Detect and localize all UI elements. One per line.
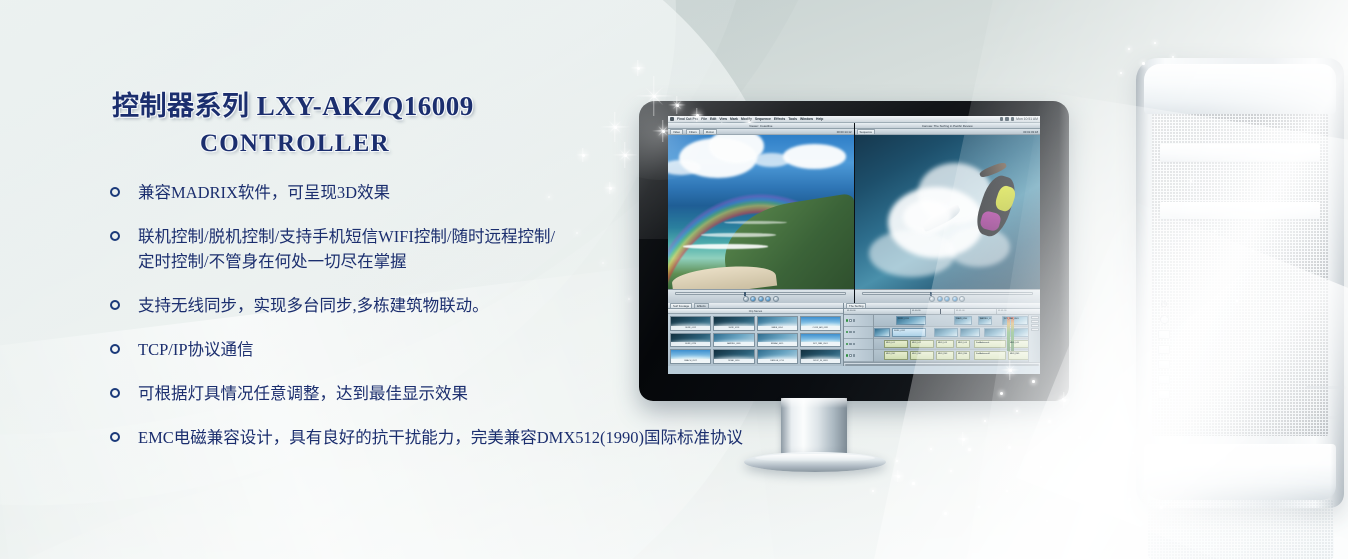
clip-label: BEACH_0522 [671, 359, 710, 363]
track-auto-icon[interactable] [853, 319, 856, 322]
prev-frame-button[interactable] [743, 296, 749, 302]
list-item[interactable]: DROP_IN_0803 [800, 349, 841, 364]
clip-overlays-button[interactable] [1031, 324, 1039, 327]
display-monitor: Final Cut Pro File Edit View Mark Modify… [639, 101, 1069, 401]
track-auto-icon[interactable] [853, 343, 856, 346]
record-button[interactable] [758, 296, 764, 302]
tower-top-cap [1144, 64, 1336, 114]
viewer-canvas[interactable] [668, 135, 854, 289]
clip-label: BARREL_0309 [714, 342, 753, 346]
menu-view[interactable]: View [719, 117, 727, 121]
viewer-row: Viewer: Coastline Video Filters Motion 0… [668, 123, 1040, 303]
match-frame-button[interactable] [773, 296, 779, 302]
bullet-ring-icon [110, 432, 120, 442]
clip-name: MUS_R02 [912, 353, 921, 355]
list-item[interactable]: WAVE_0204 [757, 316, 798, 331]
canvas-transport[interactable] [855, 289, 1041, 303]
menu-extras[interactable]: Mon 10:51 AM [1000, 117, 1038, 121]
menu-clock[interactable]: Mon 10:51 AM [1016, 117, 1038, 121]
clip-name: SURF_0118 [898, 318, 909, 320]
track-auto-icon[interactable] [853, 354, 856, 357]
next-frame-button[interactable] [765, 296, 771, 302]
clip-name: SURF_0112 [894, 330, 905, 332]
track-visible-led[interactable] [846, 331, 848, 333]
tab-video[interactable]: Video [670, 129, 683, 134]
track-visible-led[interactable] [846, 319, 848, 321]
ruler-mark: 01:01:30 [998, 310, 1007, 312]
clip-name: MUS_L03 [938, 342, 947, 344]
canvas-tabs[interactable]: Sequence 00:01:03:18 [855, 129, 1041, 135]
ruler-mark: 01:00:30 [912, 310, 921, 312]
list-item[interactable]: SKY_PAN_0501 [800, 333, 841, 348]
viewer-panel[interactable]: Viewer: Coastline Video Filters Motion 0… [668, 123, 855, 303]
timeline-scrollbar[interactable] [844, 362, 1040, 366]
menu-tools[interactable]: Tools [788, 117, 797, 121]
monitor-screen: Final Cut Pro File Edit View Mark Modify… [668, 116, 1040, 374]
track-auto-icon[interactable] [853, 331, 856, 334]
match-frame-button[interactable] [959, 296, 965, 302]
feature-text: TCP/IP协议通信 [138, 340, 254, 359]
list-item[interactable]: BREAK_0415 [757, 333, 798, 348]
browser-panel[interactable]: Surf Footage Effects Clip Names SURF_011… [668, 303, 844, 366]
monitor-stand-neck [781, 398, 847, 460]
bullet-ring-icon [110, 344, 120, 354]
clip-name: MUS_L04 [958, 342, 967, 344]
wifi-icon[interactable] [1005, 117, 1009, 121]
clip-label: PADDLE_0714 [758, 359, 797, 363]
clip-thumbnail-grid[interactable]: SURF_0112 SURF_0118 WAVE_0204 CLIFF_AIR_… [668, 314, 843, 366]
spotlight-icon[interactable] [1000, 117, 1004, 121]
track-audible-led[interactable] [846, 354, 848, 356]
clip-name: BARREL_0309 [980, 318, 992, 320]
sparkle-star [956, 432, 970, 446]
ruler-mark: 01:01:00 [956, 310, 965, 312]
track-controls-gutter[interactable] [844, 315, 874, 362]
product-banner: 控制器系列 LXY-AKZQ16009 CONTROLLER 兼容MADRIX软… [0, 0, 1348, 559]
playhead[interactable] [940, 309, 941, 314]
next-frame-button[interactable] [952, 296, 958, 302]
feature-text: 可根据灯具情况任意调整，达到最佳显示效果 [138, 384, 468, 403]
tab-motion[interactable]: Motion [703, 129, 717, 134]
tab-filters[interactable]: Filters [686, 129, 700, 134]
clip-label: SURF_0226 [671, 342, 710, 346]
timeline-panel[interactable]: The Surfing 01:00:00 01:00:30 01:01:00 0… [844, 303, 1040, 366]
track-height-button[interactable] [1031, 320, 1039, 323]
list-item[interactable]: CLIFF_AIR_0331 [800, 316, 841, 331]
canvas-timecode[interactable]: 00:01:03:18 [1023, 130, 1038, 134]
bullet-ring-icon [110, 300, 120, 310]
drive-bay-slot[interactable] [1160, 144, 1320, 161]
transport-buttons[interactable] [743, 296, 779, 302]
record-button[interactable] [944, 296, 950, 302]
clip-label: DROP_IN_0803 [801, 359, 840, 363]
clip-label: BREAK_0415 [758, 342, 797, 346]
clip-name: SurfAmbienceL [976, 342, 990, 344]
page-title-cn: 控制器系列 LXY-AKZQ16009 [112, 84, 474, 123]
clip-label: SKY_PAN_0501 [801, 342, 840, 346]
audio-meter [1007, 317, 1014, 351]
track-lock-icon[interactable] [849, 319, 852, 322]
viewer-timecode[interactable]: 00:00:14:12 [837, 130, 852, 134]
menu-window[interactable]: Window [800, 117, 813, 121]
video-track-2[interactable]: SURF_0118 WAVE_0204 BARREL_0309 SKY_PAN_… [874, 315, 1028, 327]
timeline-body[interactable]: SURF_0118 WAVE_0204 BARREL_0309 SKY_PAN_… [844, 315, 1040, 362]
battery-icon[interactable] [1011, 117, 1015, 121]
scrollbar-thumb[interactable] [845, 364, 1039, 366]
feature-text: 联机控制/脱机控制/支持手机短信WIFI控制/随时远程控制/ [138, 227, 555, 246]
list-item[interactable]: BEACH_0522 [670, 349, 711, 364]
clip-name: MUS_R05 [1010, 353, 1019, 355]
zoom-slider[interactable] [1031, 316, 1039, 319]
prev-frame-button[interactable] [929, 296, 935, 302]
clip-label: SURF_0112 [671, 326, 710, 330]
keyframes-button[interactable] [1031, 328, 1039, 331]
list-item[interactable]: SURF_0112 [670, 316, 711, 331]
clip-name: SurfAmbienceR [976, 353, 990, 355]
scrubber[interactable] [675, 292, 846, 295]
clip-name: SKY_PAN_0501 [1004, 318, 1019, 320]
list-item[interactable]: SURF_0118 [713, 316, 754, 331]
surfer-wave-image [855, 135, 1041, 289]
menu-modify[interactable]: Modify [741, 117, 752, 121]
menu-effects[interactable]: Effects [774, 117, 785, 121]
list-item: EMC电磁兼容设计，具有良好的抗干扰能力，完美兼容DMX512(1990)国际标… [108, 425, 868, 450]
monitor-bezel: Final Cut Pro File Edit View Mark Modify… [639, 101, 1069, 401]
menu-app-name[interactable]: Final Cut Pro [677, 117, 698, 121]
tab-surf-footage[interactable]: Surf Footage [670, 303, 692, 308]
list-item[interactable]: SURF_0226 [670, 333, 711, 348]
clip-name: MUS_R03 [938, 353, 947, 355]
track-lock-icon[interactable] [849, 343, 852, 346]
bullet-ring-icon [110, 388, 120, 398]
track-lock-icon[interactable] [849, 354, 852, 357]
menu-edit[interactable]: Edit [710, 117, 716, 121]
audio-track-1[interactable]: MUS_L01 MUS_L02 MUS_L03 MUS_L04 SurfAmbi… [874, 339, 1028, 351]
menu-file[interactable]: File [701, 117, 707, 121]
lower-panes: Surf Footage Effects Clip Names SURF_011… [668, 303, 1040, 366]
audio-track-2[interactable]: MUS_R01 MUS_R02 MUS_R03 MUS_R04 SurfAmbi… [874, 350, 1028, 362]
track-audible-led[interactable] [846, 343, 848, 345]
canvas-scrubber[interactable] [862, 292, 1033, 295]
clip-name: MUS_L01 [886, 342, 895, 344]
play-button[interactable] [750, 296, 756, 302]
feature-text: 支持无线同步，实现多台同步,多栋建筑物联动。 [138, 296, 489, 315]
bullet-ring-icon [110, 187, 120, 197]
play-button[interactable] [937, 296, 943, 302]
bullet-ring-icon [110, 231, 120, 241]
list-item[interactable]: BARREL_0309 [713, 333, 754, 348]
clip-name: WAVE_0204 [956, 318, 967, 320]
clip-name: MUS_R04 [958, 353, 967, 355]
canvas-transport-buttons[interactable] [929, 296, 965, 302]
menu-mark[interactable]: Mark [730, 117, 738, 121]
clip-label: ROAD_0610 [714, 359, 753, 363]
feature-text: EMC电磁兼容设计，具有良好的抗干扰能力，完美兼容DMX512(1990)国际标… [138, 428, 743, 447]
video-track-1[interactable]: SURF_0112 PADDLE_0714 [874, 327, 1028, 339]
viewer-transport[interactable] [668, 289, 854, 303]
menu-bar[interactable]: Final Cut Pro File Edit View Mark Modify… [668, 116, 1040, 123]
apple-icon[interactable] [670, 117, 674, 121]
ruler-mark: 01:00:00 [847, 310, 856, 312]
page-title-en: CONTROLLER [200, 130, 390, 158]
monitor-stand-base [744, 452, 886, 472]
canvas-view[interactable] [855, 135, 1041, 289]
tab-sequence[interactable]: Sequence [857, 129, 876, 134]
clip-label: WAVE_0204 [758, 326, 797, 330]
timeline-toolbar[interactable] [1028, 315, 1040, 362]
list-item[interactable]: PADDLE_0714 [757, 349, 798, 364]
canvas-panel[interactable]: Canvas: The Surfing in Pacific Review Se… [855, 123, 1041, 303]
menu-sequence[interactable]: Sequence [755, 117, 771, 121]
track-area[interactable]: SURF_0118 WAVE_0204 BARREL_0309 SKY_PAN_… [874, 315, 1028, 362]
clip-name: MUS_L02 [912, 342, 921, 344]
clip-label: CLIFF_AIR_0331 [801, 326, 840, 330]
sparkle-star [892, 470, 904, 482]
list-item[interactable]: ROAD_0610 [713, 349, 754, 364]
tab-effects[interactable]: Effects [694, 303, 709, 308]
clip-name: MUS_R01 [886, 353, 895, 355]
clip-name: MUS_L05 [1010, 342, 1019, 344]
track-lock-icon[interactable] [849, 331, 852, 334]
coastline-rainbow-image [668, 135, 854, 289]
tab-sequence-timeline[interactable]: The Surfing [846, 303, 866, 308]
feature-text: 兼容MADRIX软件，可呈现3D效果 [138, 183, 390, 202]
menu-help[interactable]: Help [816, 117, 823, 121]
clip-label: SURF_0118 [714, 326, 753, 330]
drive-bay-slot[interactable] [1160, 202, 1320, 219]
viewer-tabs[interactable]: Video Filters Motion 00:00:14:12 [668, 129, 854, 135]
